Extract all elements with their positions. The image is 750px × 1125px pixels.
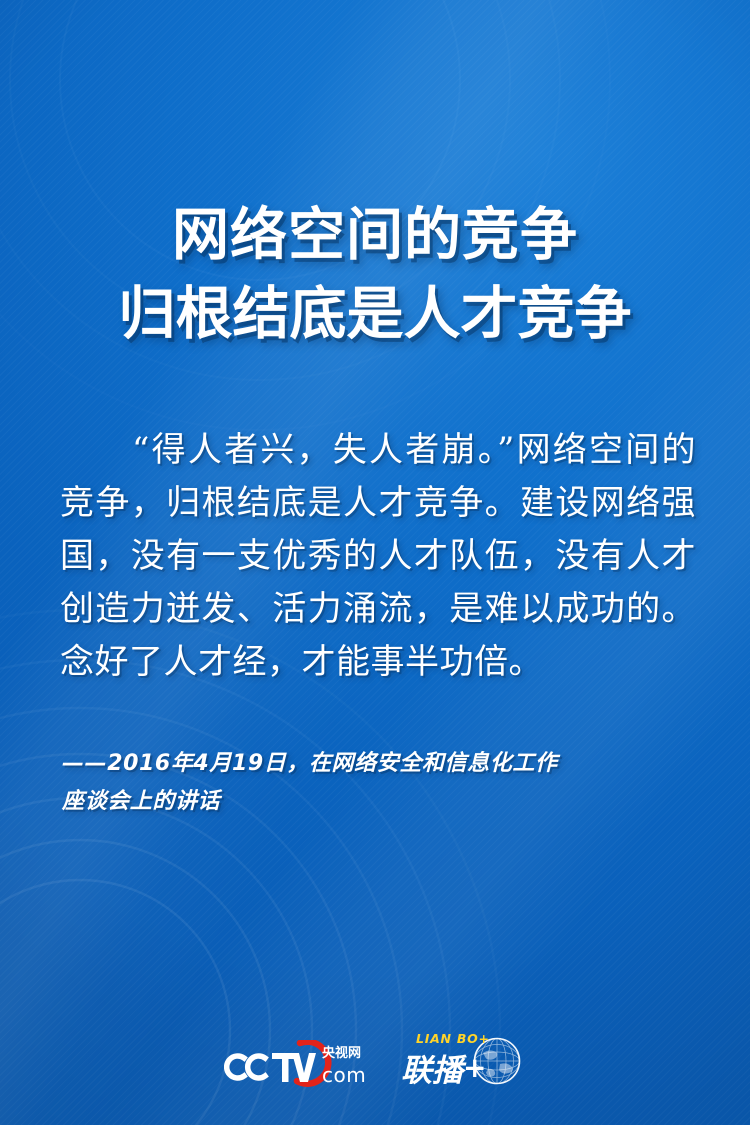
poster-canvas: 网络空间的竞争 归根结底是人才竞争 “得人者兴，失人者崩。”网络空间的竞争，归根… xyxy=(0,0,750,1125)
lianbo-pinyin-glyphs: LIAN BO+ xyxy=(416,1031,490,1046)
quote-paragraph: “得人者兴，失人者崩。”网络空间的竞争，归根结底是人才竞争。建设网络强国，没有一… xyxy=(60,424,696,689)
page-title: 网络空间的竞争 归根结底是人才竞争 xyxy=(0,196,750,354)
footer-logo-bar: CCTV 央视网 com xyxy=(0,1023,750,1107)
attribution-line-2: 座谈会上的讲话 xyxy=(62,783,702,821)
attribution-line-1: ——2016年4月19日，在网络安全和信息化工作 xyxy=(62,745,702,783)
cctv-domain-glyphs: com xyxy=(322,1063,366,1087)
svg-text:LIAN BO+: LIAN BO+ xyxy=(416,1031,490,1046)
cctv-chinese-name-glyphs: 央视网 xyxy=(322,1045,361,1061)
headline-line-1: 网络空间的竞争 xyxy=(0,196,750,275)
headline-line-2: 归根结底是人才竞争 xyxy=(0,275,750,354)
poster-content: 网络空间的竞争 归根结底是人才竞争 “得人者兴，失人者崩。”网络空间的竞争，归根… xyxy=(0,0,750,1125)
lianbo-logo: LIAN BO+ 联播 + xyxy=(398,1029,526,1101)
lianbo-chinese-glyphs: 联播 + xyxy=(401,1051,486,1089)
svg-text:联播: 联播 xyxy=(401,1053,467,1089)
attribution: ——2016年4月19日，在网络安全和信息化工作 座谈会上的讲话 xyxy=(62,745,702,821)
svg-text:+: + xyxy=(463,1051,486,1084)
svg-text:com: com xyxy=(322,1063,366,1087)
svg-text:央视网: 央视网 xyxy=(322,1045,361,1061)
cctv-logo: CCTV 央视网 com xyxy=(224,1041,372,1089)
